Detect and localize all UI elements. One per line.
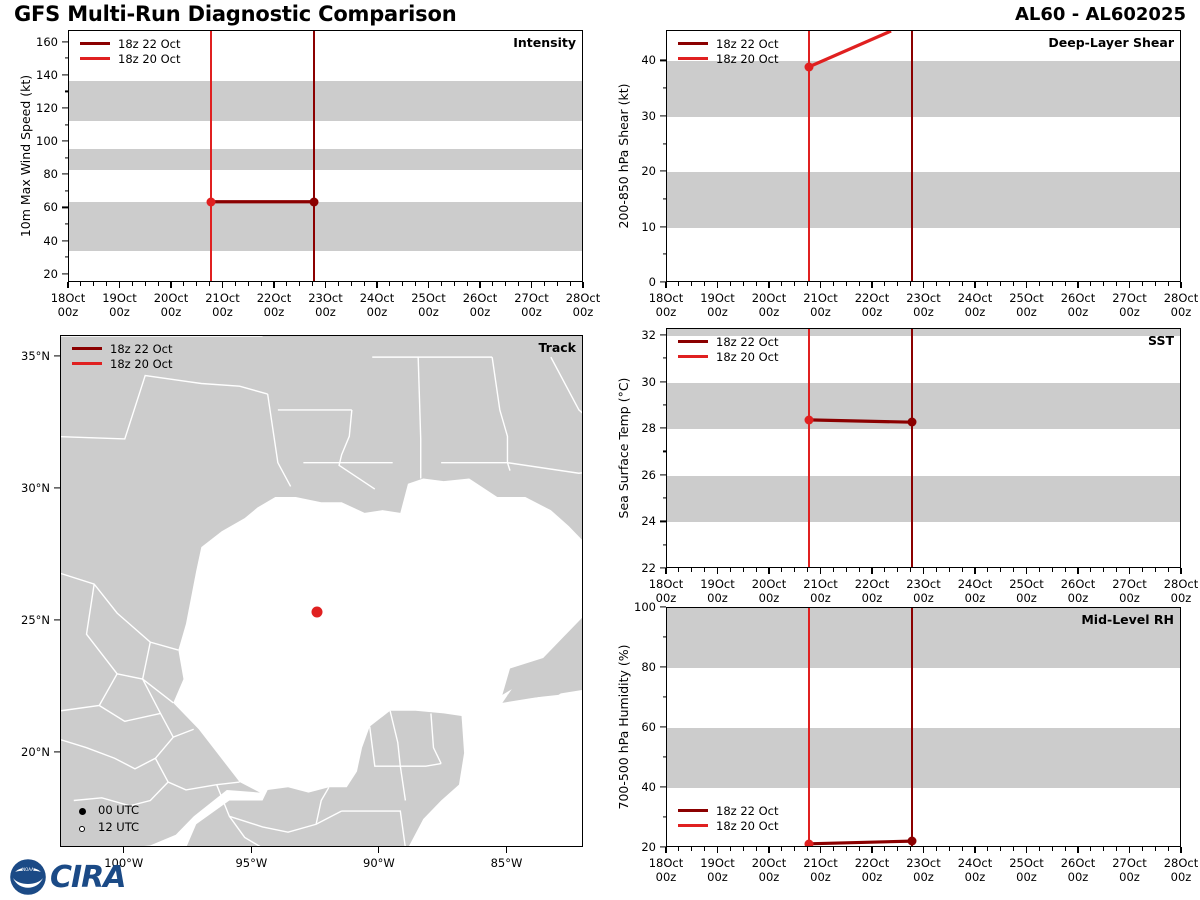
y-minor-tick bbox=[663, 696, 667, 697]
x-tick-label: 25Oct00z bbox=[411, 291, 446, 319]
shear-series-layer bbox=[667, 31, 1181, 282]
x-minor-tick bbox=[910, 568, 911, 572]
longitude-tick-label: 85°W bbox=[491, 856, 523, 870]
x-minor-tick bbox=[897, 847, 898, 851]
x-minor-tick bbox=[312, 282, 313, 286]
x-tick-hour: 00z bbox=[656, 870, 677, 884]
noaa-cira-logo: NOAA CIRA bbox=[8, 858, 126, 896]
y-tick-mark bbox=[62, 74, 68, 75]
x-tick-date: 27Oct bbox=[514, 291, 549, 305]
x-tick-date: 19Oct bbox=[700, 856, 735, 870]
x-minor-tick bbox=[884, 282, 885, 286]
x-tick-mark bbox=[479, 282, 480, 288]
legend-color-swatch bbox=[678, 57, 708, 60]
x-tick-date: 24Oct bbox=[958, 856, 993, 870]
x-minor-tick bbox=[248, 282, 249, 286]
x-tick-mark bbox=[923, 282, 924, 288]
data-point-marker[interactable] bbox=[309, 197, 318, 206]
x-minor-tick bbox=[1142, 568, 1143, 572]
legend-item[interactable]: 18z 20 Oct bbox=[678, 349, 779, 364]
intensity-plot-area[interactable] bbox=[68, 30, 583, 282]
x-minor-tick bbox=[1142, 282, 1143, 286]
x-minor-tick bbox=[1116, 282, 1117, 286]
x-minor-tick bbox=[897, 282, 898, 286]
x-tick-label: 21Oct00z bbox=[803, 856, 838, 884]
x-tick-hour: 00z bbox=[913, 870, 934, 884]
x-minor-tick bbox=[145, 282, 146, 286]
y-tick-mark bbox=[62, 174, 68, 175]
x-minor-tick bbox=[756, 847, 757, 851]
x-minor-tick bbox=[1155, 847, 1156, 851]
y-tick-mark bbox=[62, 273, 68, 274]
x-tick-date: 24Oct bbox=[360, 291, 395, 305]
y-tick-label: 60 bbox=[8, 200, 58, 214]
sst-plot-area[interactable] bbox=[666, 328, 1181, 568]
storm-id-title: AL60 - AL602025 bbox=[1015, 4, 1186, 25]
x-tick-label: 18Oct00z bbox=[649, 856, 684, 884]
x-tick-mark bbox=[871, 847, 872, 853]
track-map-area[interactable] bbox=[60, 335, 583, 847]
x-tick-label: 22Oct00z bbox=[855, 291, 890, 319]
x-minor-tick bbox=[743, 568, 744, 572]
x-minor-tick bbox=[781, 568, 782, 572]
x-tick-date: 19Oct bbox=[102, 291, 137, 305]
x-minor-tick bbox=[1090, 282, 1091, 286]
x-tick-hour: 00z bbox=[212, 305, 233, 319]
latitude-tick-mark bbox=[54, 356, 60, 357]
x-tick-mark bbox=[119, 282, 120, 288]
x-tick-date: 18Oct bbox=[649, 577, 684, 591]
x-tick-hour: 00z bbox=[707, 305, 728, 319]
longitude-tick-mark bbox=[123, 847, 124, 853]
x-minor-tick bbox=[807, 282, 808, 286]
legend-item[interactable]: 18z 22 Oct bbox=[80, 36, 181, 51]
y-tick-mark bbox=[660, 171, 666, 172]
y-tick-mark bbox=[62, 41, 68, 42]
series-line bbox=[809, 420, 912, 422]
x-tick-mark bbox=[531, 282, 532, 288]
x-tick-mark bbox=[1077, 282, 1078, 288]
x-minor-tick bbox=[962, 847, 963, 851]
x-minor-tick bbox=[364, 282, 365, 286]
x-minor-tick bbox=[910, 847, 911, 851]
y-minor-tick bbox=[65, 190, 69, 191]
x-minor-tick bbox=[1065, 282, 1066, 286]
x-minor-tick bbox=[936, 282, 937, 286]
x-minor-tick bbox=[691, 568, 692, 572]
intensity-legend: 18z 22 Oct18z 20 Oct bbox=[80, 36, 181, 66]
x-minor-tick bbox=[807, 568, 808, 572]
utc-legend-item: 00 UTC bbox=[74, 801, 139, 818]
x-tick-mark bbox=[768, 568, 769, 574]
x-minor-tick bbox=[678, 568, 679, 572]
x-tick-label: 25Oct00z bbox=[1009, 291, 1044, 319]
x-tick-date: 21Oct bbox=[803, 856, 838, 870]
y-tick-mark bbox=[660, 226, 666, 227]
x-minor-tick bbox=[859, 568, 860, 572]
x-minor-tick bbox=[910, 282, 911, 286]
page-title: GFS Multi-Run Diagnostic Comparison bbox=[14, 2, 456, 26]
x-tick-mark bbox=[1129, 282, 1130, 288]
x-tick-date: 26Oct bbox=[1061, 291, 1096, 305]
x-tick-date: 22Oct bbox=[257, 291, 292, 305]
x-minor-tick bbox=[1000, 282, 1001, 286]
x-tick-hour: 00z bbox=[965, 305, 986, 319]
longitude-tick-mark bbox=[378, 847, 379, 853]
y-tick-label: 28 bbox=[606, 421, 656, 435]
x-tick-mark bbox=[974, 282, 975, 288]
x-minor-tick bbox=[794, 847, 795, 851]
x-tick-hour: 00z bbox=[161, 305, 182, 319]
x-minor-tick bbox=[807, 847, 808, 851]
x-minor-tick bbox=[1039, 847, 1040, 851]
x-tick-hour: 00z bbox=[58, 305, 79, 319]
x-minor-tick bbox=[518, 282, 519, 286]
x-tick-mark bbox=[717, 568, 718, 574]
y-tick-label: 20 bbox=[606, 840, 656, 854]
x-tick-mark bbox=[1026, 847, 1027, 853]
storm-position-marker[interactable] bbox=[312, 606, 323, 617]
y-tick-mark bbox=[660, 381, 666, 382]
x-tick-label: 28Oct00z bbox=[1164, 291, 1199, 319]
legend-label: 18z 20 Oct bbox=[716, 819, 779, 833]
x-tick-date: 28Oct bbox=[1164, 577, 1199, 591]
x-tick-label: 28Oct00z bbox=[566, 291, 601, 319]
y-tick-label: 60 bbox=[606, 720, 656, 734]
intensity-panel-title: Intensity bbox=[513, 35, 576, 50]
x-minor-tick bbox=[1142, 847, 1143, 851]
x-minor-tick bbox=[949, 568, 950, 572]
x-tick-hour: 00z bbox=[109, 305, 130, 319]
x-minor-tick bbox=[415, 282, 416, 286]
x-tick-mark bbox=[1180, 847, 1181, 853]
x-minor-tick bbox=[704, 282, 705, 286]
y-tick-mark bbox=[660, 428, 666, 429]
track-panel-title: Track bbox=[539, 340, 576, 355]
legend-label: 18z 22 Oct bbox=[110, 342, 173, 356]
x-tick-mark bbox=[325, 282, 326, 288]
x-tick-date: 20Oct bbox=[752, 577, 787, 591]
x-minor-tick bbox=[196, 282, 197, 286]
x-minor-tick bbox=[1052, 282, 1053, 286]
legend-item[interactable]: 18z 22 Oct bbox=[678, 36, 779, 51]
x-tick-mark bbox=[1129, 847, 1130, 853]
x-minor-tick bbox=[261, 282, 262, 286]
y-tick-mark bbox=[660, 60, 666, 61]
x-tick-hour: 00z bbox=[1016, 591, 1037, 605]
legend-label: 18z 22 Oct bbox=[716, 37, 779, 51]
legend-item[interactable]: 18z 20 Oct bbox=[678, 818, 779, 833]
latitude-tick-label: 20°N bbox=[0, 745, 50, 759]
x-minor-tick bbox=[1103, 282, 1104, 286]
y-minor-tick bbox=[663, 358, 667, 359]
longitude-tick-label: 90°W bbox=[363, 856, 395, 870]
legend-color-swatch bbox=[72, 347, 102, 350]
legend-label: 18z 20 Oct bbox=[110, 357, 173, 371]
x-minor-tick bbox=[1039, 282, 1040, 286]
y-minor-tick bbox=[65, 124, 69, 125]
x-tick-label: 25Oct00z bbox=[1009, 856, 1044, 884]
x-tick-label: 20Oct00z bbox=[752, 291, 787, 319]
x-minor-tick bbox=[691, 282, 692, 286]
x-minor-tick bbox=[884, 568, 885, 572]
x-tick-mark bbox=[665, 282, 666, 288]
x-tick-date: 18Oct bbox=[649, 291, 684, 305]
x-tick-label: 23Oct00z bbox=[308, 291, 343, 319]
data-point-marker[interactable] bbox=[206, 197, 215, 206]
y-tick-label: 80 bbox=[8, 167, 58, 181]
latitude-tick-label: 25°N bbox=[0, 613, 50, 627]
panel-track-map: Track18z 22 Oct18z 20 Oct00 UTC12 UTC35°… bbox=[60, 335, 583, 847]
x-tick-hour: 00z bbox=[521, 305, 542, 319]
x-tick-date: 25Oct bbox=[1009, 291, 1044, 305]
x-tick-hour: 00z bbox=[264, 305, 285, 319]
x-tick-date: 25Oct bbox=[1009, 856, 1044, 870]
longitude-tick-mark bbox=[251, 847, 252, 853]
y-tick-label: 40 bbox=[606, 53, 656, 67]
y-tick-label: 20 bbox=[606, 164, 656, 178]
x-tick-date: 26Oct bbox=[1061, 856, 1096, 870]
x-minor-tick bbox=[1000, 847, 1001, 851]
x-tick-date: 26Oct bbox=[463, 291, 498, 305]
x-minor-tick bbox=[1103, 847, 1104, 851]
x-tick-date: 25Oct bbox=[411, 291, 446, 305]
x-tick-label: 19Oct00z bbox=[102, 291, 137, 319]
y-tick-mark bbox=[62, 140, 68, 141]
x-minor-tick bbox=[1168, 568, 1169, 572]
x-tick-date: 20Oct bbox=[752, 856, 787, 870]
x-tick-hour: 00z bbox=[810, 870, 831, 884]
legend-label: 18z 20 Oct bbox=[716, 350, 779, 364]
x-tick-hour: 00z bbox=[913, 305, 934, 319]
x-tick-mark bbox=[1180, 282, 1181, 288]
x-tick-mark bbox=[871, 568, 872, 574]
latitude-tick-mark bbox=[54, 619, 60, 620]
data-point-marker[interactable] bbox=[804, 63, 813, 72]
x-minor-tick bbox=[467, 282, 468, 286]
x-minor-tick bbox=[1090, 847, 1091, 851]
x-minor-tick bbox=[756, 282, 757, 286]
legend-item[interactable]: 18z 20 Oct bbox=[80, 51, 181, 66]
y-tick-label: 32 bbox=[606, 328, 656, 342]
y-minor-tick bbox=[663, 756, 667, 757]
latitude-tick-label: 30°N bbox=[0, 481, 50, 495]
y-tick-mark bbox=[660, 726, 666, 727]
x-tick-date: 21Oct bbox=[803, 291, 838, 305]
sst-y-axis-label: Sea Surface Temp (°C) bbox=[616, 378, 631, 519]
x-tick-label: 23Oct00z bbox=[906, 856, 941, 884]
x-tick-hour: 00z bbox=[1068, 591, 1089, 605]
legend-item[interactable]: 18z 22 Oct bbox=[678, 803, 779, 818]
x-minor-tick bbox=[884, 847, 885, 851]
sst-series-layer bbox=[667, 329, 1181, 568]
x-minor-tick bbox=[730, 282, 731, 286]
longitude-tick-label: 95°W bbox=[235, 856, 267, 870]
x-minor-tick bbox=[704, 568, 705, 572]
utc-legend-label: 00 UTC bbox=[98, 803, 139, 817]
x-minor-tick bbox=[1116, 568, 1117, 572]
y-tick-label: 140 bbox=[8, 68, 58, 82]
y-tick-label: 0 bbox=[606, 275, 656, 289]
latitude-tick-mark bbox=[54, 487, 60, 488]
x-tick-hour: 00z bbox=[1171, 305, 1192, 319]
legend-color-swatch bbox=[678, 355, 708, 358]
legend-item[interactable]: 18z 20 Oct bbox=[678, 51, 779, 66]
x-tick-label: 20Oct00z bbox=[752, 577, 787, 605]
x-tick-date: 27Oct bbox=[1112, 856, 1147, 870]
x-minor-tick bbox=[949, 282, 950, 286]
latitude-tick-label: 35°N bbox=[0, 349, 50, 363]
x-minor-tick bbox=[833, 568, 834, 572]
x-minor-tick bbox=[936, 568, 937, 572]
x-tick-date: 28Oct bbox=[566, 291, 601, 305]
x-tick-hour: 00z bbox=[1016, 305, 1037, 319]
y-minor-tick bbox=[663, 498, 667, 499]
x-tick-mark bbox=[923, 847, 924, 853]
longitude-tick-mark bbox=[506, 847, 507, 853]
x-minor-tick bbox=[704, 847, 705, 851]
x-tick-mark bbox=[820, 282, 821, 288]
y-tick-mark bbox=[660, 606, 666, 607]
x-minor-tick bbox=[158, 282, 159, 286]
panel-intensity: Intensity18z 22 Oct18z 20 Oct10m Max Win… bbox=[68, 30, 583, 282]
x-tick-mark bbox=[273, 282, 274, 288]
x-minor-tick bbox=[781, 847, 782, 851]
y-tick-mark bbox=[660, 521, 666, 522]
y-tick-label: 26 bbox=[606, 468, 656, 482]
x-minor-tick bbox=[1155, 568, 1156, 572]
x-minor-tick bbox=[781, 282, 782, 286]
x-tick-hour: 00z bbox=[759, 591, 780, 605]
y-tick-label: 24 bbox=[606, 514, 656, 528]
x-tick-label: 22Oct00z bbox=[855, 577, 890, 605]
x-minor-tick bbox=[1013, 282, 1014, 286]
x-tick-hour: 00z bbox=[470, 305, 491, 319]
y-tick-label: 22 bbox=[606, 561, 656, 575]
x-tick-hour: 00z bbox=[759, 305, 780, 319]
y-tick-mark bbox=[660, 786, 666, 787]
x-tick-label: 24Oct00z bbox=[958, 291, 993, 319]
x-tick-label: 24Oct00z bbox=[958, 577, 993, 605]
x-tick-mark bbox=[428, 282, 429, 288]
x-tick-mark bbox=[170, 282, 171, 288]
x-tick-date: 23Oct bbox=[906, 577, 941, 591]
open-circle-icon bbox=[74, 817, 90, 836]
utc-marker-legend: 00 UTC12 UTC bbox=[74, 801, 139, 835]
series-line bbox=[809, 31, 891, 67]
cira-wordmark: CIRA bbox=[50, 860, 126, 895]
x-tick-date: 22Oct bbox=[855, 577, 890, 591]
x-tick-hour: 00z bbox=[656, 591, 677, 605]
x-minor-tick bbox=[441, 282, 442, 286]
intensity-series-layer bbox=[69, 31, 583, 282]
x-minor-tick bbox=[132, 282, 133, 286]
x-tick-mark bbox=[1026, 568, 1027, 574]
x-minor-tick bbox=[1052, 568, 1053, 572]
legend-label: 18z 22 Oct bbox=[716, 335, 779, 349]
x-minor-tick bbox=[389, 282, 390, 286]
y-minor-tick bbox=[65, 91, 69, 92]
y-minor-tick bbox=[663, 816, 667, 817]
x-tick-label: 19Oct00z bbox=[700, 291, 735, 319]
noaa-seal-icon: NOAA bbox=[8, 858, 48, 896]
legend-label: 18z 22 Oct bbox=[716, 804, 779, 818]
utc-legend-item: 12 UTC bbox=[74, 818, 139, 835]
x-minor-tick bbox=[1116, 847, 1117, 851]
x-tick-date: 24Oct bbox=[958, 291, 993, 305]
x-tick-mark bbox=[717, 282, 718, 288]
y-tick-mark bbox=[62, 240, 68, 241]
x-tick-mark bbox=[1026, 282, 1027, 288]
x-tick-hour: 00z bbox=[965, 870, 986, 884]
rh-legend: 18z 22 Oct18z 20 Oct bbox=[678, 803, 779, 833]
x-tick-label: 19Oct00z bbox=[700, 856, 735, 884]
x-tick-hour: 00z bbox=[1171, 591, 1192, 605]
track-legend: 18z 22 Oct18z 20 Oct bbox=[72, 341, 173, 371]
x-tick-label: 20Oct00z bbox=[154, 291, 189, 319]
x-minor-tick bbox=[183, 282, 184, 286]
x-tick-date: 27Oct bbox=[1112, 577, 1147, 591]
y-minor-tick bbox=[65, 257, 69, 258]
data-point-marker[interactable] bbox=[804, 839, 813, 847]
legend-color-swatch bbox=[678, 340, 708, 343]
sst-panel-title: SST bbox=[1148, 333, 1174, 348]
x-minor-tick bbox=[987, 847, 988, 851]
x-tick-label: 20Oct00z bbox=[752, 856, 787, 884]
x-minor-tick bbox=[846, 282, 847, 286]
data-point-marker[interactable] bbox=[804, 415, 813, 424]
x-minor-tick bbox=[454, 282, 455, 286]
x-tick-hour: 00z bbox=[1068, 305, 1089, 319]
legend-color-swatch bbox=[80, 42, 110, 45]
x-minor-tick bbox=[286, 282, 287, 286]
x-minor-tick bbox=[80, 282, 81, 286]
y-minor-tick bbox=[663, 636, 667, 637]
x-tick-hour: 00z bbox=[913, 591, 934, 605]
x-minor-tick bbox=[1103, 568, 1104, 572]
x-minor-tick bbox=[730, 847, 731, 851]
x-minor-tick bbox=[897, 568, 898, 572]
legend-item[interactable]: 18z 20 Oct bbox=[72, 356, 173, 371]
shear-y-axis-label: 200-850 hPa Shear (kt) bbox=[616, 84, 631, 229]
x-minor-tick bbox=[949, 847, 950, 851]
x-tick-mark bbox=[1129, 568, 1130, 574]
x-tick-label: 26Oct00z bbox=[1061, 856, 1096, 884]
x-tick-label: 18Oct00z bbox=[51, 291, 86, 319]
y-minor-tick bbox=[65, 58, 69, 59]
x-tick-hour: 00z bbox=[862, 305, 883, 319]
x-tick-date: 21Oct bbox=[205, 291, 240, 305]
legend-item[interactable]: 18z 22 Oct bbox=[678, 334, 779, 349]
y-tick-mark bbox=[62, 207, 68, 208]
utc-legend-label: 12 UTC bbox=[98, 820, 139, 834]
x-tick-mark bbox=[376, 282, 377, 288]
x-tick-mark bbox=[923, 568, 924, 574]
shear-plot-area[interactable] bbox=[666, 30, 1181, 282]
y-minor-tick bbox=[663, 404, 667, 405]
x-minor-tick bbox=[93, 282, 94, 286]
x-minor-tick bbox=[833, 282, 834, 286]
x-tick-date: 24Oct bbox=[958, 577, 993, 591]
data-point-marker[interactable] bbox=[907, 418, 916, 427]
legend-label: 18z 20 Oct bbox=[716, 52, 779, 66]
x-tick-mark bbox=[222, 282, 223, 288]
legend-item[interactable]: 18z 22 Oct bbox=[72, 341, 173, 356]
y-minor-tick bbox=[663, 88, 667, 89]
data-point-marker[interactable] bbox=[907, 837, 916, 846]
x-tick-date: 18Oct bbox=[649, 856, 684, 870]
x-tick-hour: 00z bbox=[315, 305, 336, 319]
